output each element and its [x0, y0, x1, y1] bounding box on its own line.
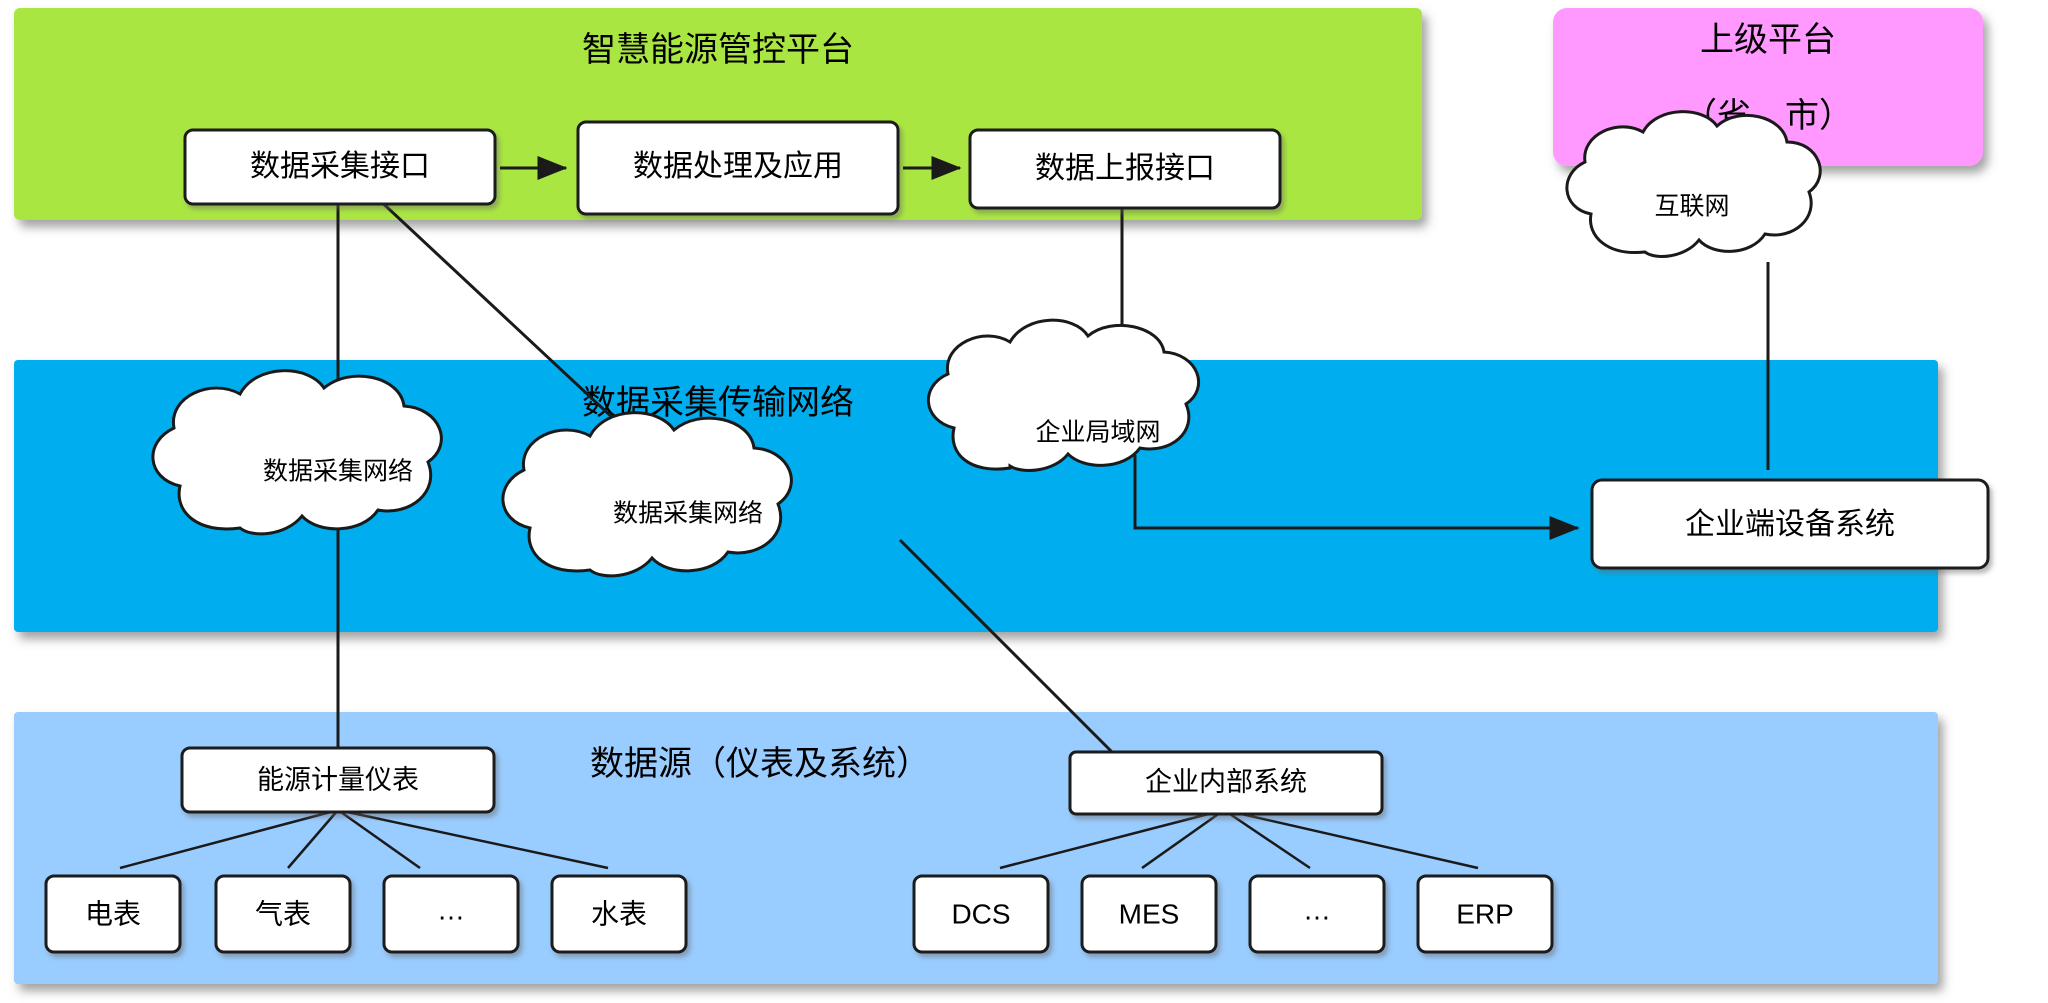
leaf-dcs[interactable]: DCS [914, 876, 1048, 952]
node-process-apply[interactable]: 数据处理及应用 [578, 122, 898, 214]
upper-platform-line1: 上级平台 [1700, 21, 1836, 59]
node-energy-meters[interactable]: 能源计量仪表 [182, 748, 494, 812]
cloud-internet-label: 互联网 [1654, 193, 1729, 221]
leaf-electric-meter[interactable]: 电表 [46, 876, 180, 952]
leaf-gas-meter-label: 气表 [255, 898, 311, 929]
cloud-collect-net-left-shape [153, 371, 441, 534]
node-enterprise-internal-label: 企业内部系统 [1145, 767, 1307, 797]
leaf-erp-label: ERP [1456, 898, 1514, 929]
leaf-more-systems-label: … [1303, 894, 1331, 925]
leaf-mes-label: MES [1119, 898, 1180, 929]
leaf-more-meters[interactable]: … [384, 876, 518, 952]
node-report-interface[interactable]: 数据上报接口 [970, 130, 1280, 208]
leaf-more-systems[interactable]: … [1250, 876, 1384, 952]
diagram-canvas: 智慧能源管控平台 数据采集传输网络 数据源（仪表及系统） 上级平台 （省、市） [0, 0, 2048, 1003]
cloud-internet-shape [1567, 112, 1820, 257]
cloud-internet[interactable]: 互联网 [1567, 112, 1820, 257]
leaf-electric-meter-label: 电表 [85, 898, 141, 929]
cloud-enterprise-lan[interactable]: 企业局域网 [928, 320, 1198, 470]
node-process-apply-label: 数据处理及应用 [633, 150, 843, 183]
cloud-collect-net-mid[interactable]: 数据采集网络 [503, 413, 791, 576]
leaf-more-meters-label: … [437, 894, 465, 925]
cloud-collect-net-mid-shape [503, 413, 791, 576]
band-datasource-label: 数据源（仪表及系统） [590, 745, 930, 783]
leaf-water-meter[interactable]: 水表 [552, 876, 686, 952]
leaf-mes[interactable]: MES [1082, 876, 1216, 952]
node-enterprise-device-system[interactable]: 企业端设备系统 [1592, 480, 1988, 568]
architecture-diagram: 智慧能源管控平台 数据采集传输网络 数据源（仪表及系统） 上级平台 （省、市） [0, 0, 2048, 1003]
cloud-enterprise-lan-label: 企业局域网 [1035, 419, 1160, 447]
leaf-gas-meter[interactable]: 气表 [216, 876, 350, 952]
cloud-enterprise-lan-shape [928, 320, 1198, 470]
node-collect-interface[interactable]: 数据采集接口 [185, 130, 495, 204]
leaf-water-meter-label: 水表 [591, 898, 647, 929]
cloud-collect-net-left-label: 数据采集网络 [263, 458, 413, 486]
node-energy-meters-label: 能源计量仪表 [257, 765, 419, 795]
node-report-interface-label: 数据上报接口 [1035, 152, 1215, 185]
node-enterprise-internal-systems[interactable]: 企业内部系统 [1070, 752, 1382, 814]
band-platform-label: 智慧能源管控平台 [582, 31, 854, 69]
leaf-erp[interactable]: ERP [1418, 876, 1552, 952]
cloud-collect-net-mid-label: 数据采集网络 [613, 500, 763, 528]
node-collect-interface-label: 数据采集接口 [250, 150, 430, 183]
cloud-collect-net-left[interactable]: 数据采集网络 [153, 371, 441, 534]
node-enterprise-device-label: 企业端设备系统 [1685, 508, 1895, 541]
leaf-dcs-label: DCS [951, 898, 1010, 929]
